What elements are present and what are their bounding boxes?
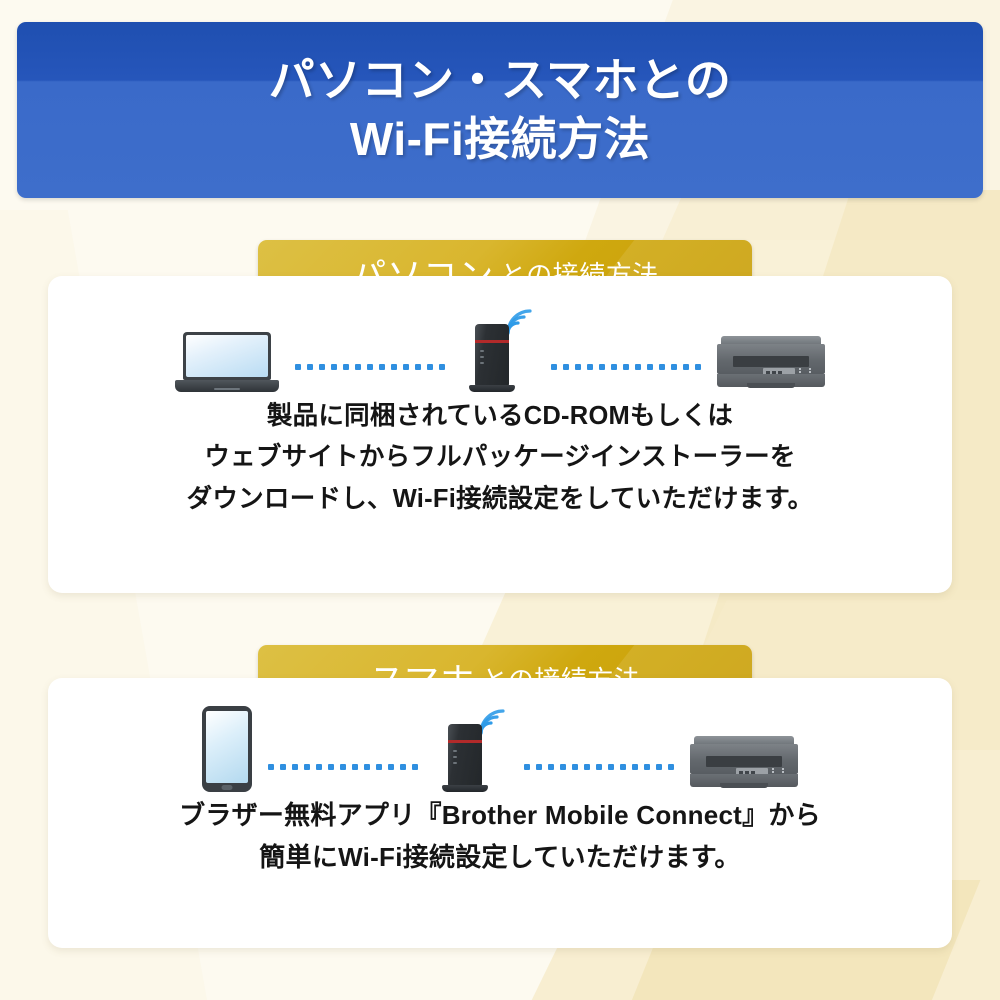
illustration-smartphone xyxy=(48,710,952,792)
smartphone-icon xyxy=(202,706,252,792)
section-header-pc-suffix: との接続方法 xyxy=(500,255,659,292)
dotted-line-icon-2 xyxy=(551,364,701,370)
printer-icon-2 xyxy=(690,736,798,792)
router-icon-2 xyxy=(434,708,508,792)
card-smartphone-body-line-1: ブラザー無料アプリ『Brother Mobile Connect』から xyxy=(48,794,952,836)
wifi-icon xyxy=(505,308,535,336)
dotted-line-icon xyxy=(295,364,445,370)
printer-icon xyxy=(717,336,825,392)
card-pc-body-line-2: ウェブサイトからフルパッケージインストーラーを xyxy=(48,437,952,478)
page-title-line-2: Wi-Fi接続方法 xyxy=(350,110,650,169)
illustration-pc xyxy=(48,312,952,392)
wifi-icon-2 xyxy=(478,708,508,736)
promo-page: パソコン・スマホとの Wi-Fi接続方法 パソコン との接続方法 xyxy=(0,0,1000,1000)
page-title-line-1: パソコン・スマホとの xyxy=(269,51,732,110)
section-header-smartphone-highlight: スマホ xyxy=(370,653,476,704)
laptop-icon xyxy=(175,332,279,392)
card-pc-body-line-3: ダウンロードし、Wi-Fi接続設定をしていただけます。 xyxy=(48,479,952,520)
card-pc-body: 製品に同梱されているCD-ROMもしくは ウェブサイトからフルパッケージインスト… xyxy=(48,396,952,520)
dotted-line-icon-4 xyxy=(524,764,674,770)
dotted-line-icon-3 xyxy=(268,764,418,770)
section-header-pc-highlight: パソコン xyxy=(351,248,494,299)
page-title-banner: パソコン・スマホとの Wi-Fi接続方法 xyxy=(17,22,983,198)
section-header-smartphone-suffix: との接続方法 xyxy=(482,660,641,697)
card-smartphone-body-line-2: 簡単にWi-Fi接続設定していただけます。 xyxy=(48,836,952,878)
router-icon xyxy=(461,308,535,392)
card-pc-body-line-1: 製品に同梱されているCD-ROMもしくは xyxy=(48,396,952,437)
card-smartphone-body: ブラザー無料アプリ『Brother Mobile Connect』から 簡単にW… xyxy=(48,794,952,878)
card-smartphone: ブラザー無料アプリ『Brother Mobile Connect』から 簡単にW… xyxy=(48,678,952,948)
card-pc: 製品に同梱されているCD-ROMもしくは ウェブサイトからフルパッケージインスト… xyxy=(48,276,952,593)
